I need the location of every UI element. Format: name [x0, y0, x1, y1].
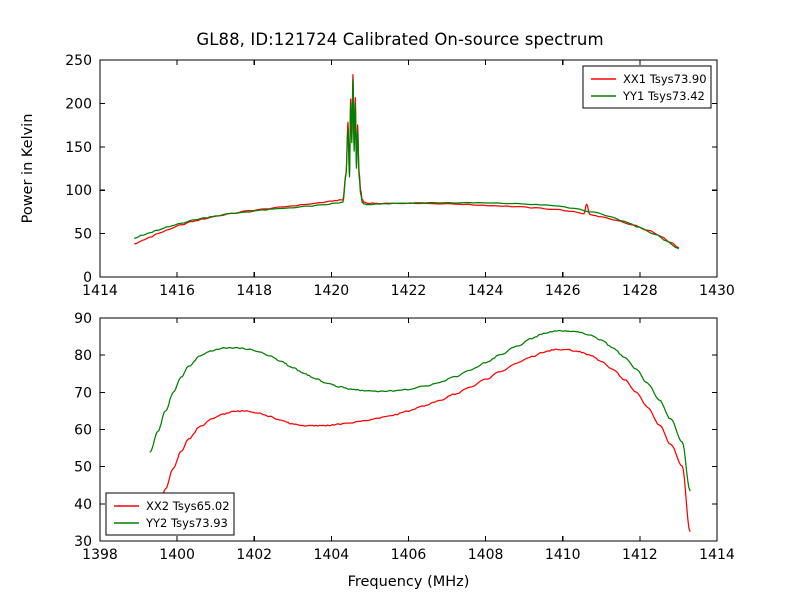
legend-label: XX2 Tsys65.02: [146, 499, 230, 513]
x-tick-label: 1424: [468, 283, 504, 299]
y-tick-label: 100: [65, 183, 92, 199]
x-tick-label: 1404: [314, 547, 350, 563]
x-tick-label: 1428: [622, 283, 658, 299]
figure-canvas: GL88, ID:121724 Calibrated On-source spe…: [0, 0, 800, 600]
series-line-yy2: [150, 331, 690, 491]
x-tick-label: 1422: [391, 283, 427, 299]
y-tick-label: 60: [74, 423, 92, 439]
x-tick-label: 1416: [159, 283, 195, 299]
y-tick-label: 50: [74, 460, 92, 476]
y-tick-label: 40: [74, 497, 92, 513]
x-tick-label: 1420: [314, 283, 350, 299]
x-tick-label: 1418: [236, 283, 272, 299]
x-tick-label: 1426: [545, 283, 581, 299]
y-tick-label: 0: [83, 270, 92, 286]
y-tick-label: 80: [74, 348, 92, 364]
legend-label: XX1 Tsys73.90: [623, 72, 707, 86]
y-tick-label: 30: [74, 534, 92, 550]
y-tick-label: 70: [74, 385, 92, 401]
x-tick-label: 1406: [391, 547, 427, 563]
y-tick-label: 250: [65, 53, 92, 69]
x-tick-label: 1430: [699, 283, 735, 299]
x-tick-label: 1400: [159, 547, 195, 563]
y-axis-label: Power in Kelvin: [20, 114, 36, 224]
panel-bottom: 1398140014021404140614081410141214143040…: [74, 311, 735, 590]
legend-top[interactable]: XX1 Tsys73.90YY1 Tsys73.42: [583, 66, 711, 108]
x-tick-label: 1412: [622, 547, 658, 563]
x-tick-label: 1410: [545, 547, 581, 563]
x-tick-label: 1402: [236, 547, 272, 563]
y-tick-label: 90: [74, 311, 92, 327]
panel-top: 1414141614181420142214241426142814300501…: [20, 53, 735, 299]
x-tick-label: 1408: [468, 547, 504, 563]
x-axis-label: Frequency (MHz): [348, 574, 470, 590]
legend-label: YY2 Tsys73.93: [145, 516, 228, 530]
spectrum-plot: 1414141614181420142214241426142814300501…: [0, 0, 800, 600]
x-tick-label: 1414: [699, 547, 735, 563]
legend-label: YY1 Tsys73.42: [622, 89, 705, 103]
legend-bottom[interactable]: XX2 Tsys65.02YY2 Tsys73.93: [106, 493, 234, 535]
y-tick-label: 200: [65, 96, 92, 112]
y-tick-label: 50: [74, 227, 92, 243]
y-tick-label: 150: [65, 140, 92, 156]
